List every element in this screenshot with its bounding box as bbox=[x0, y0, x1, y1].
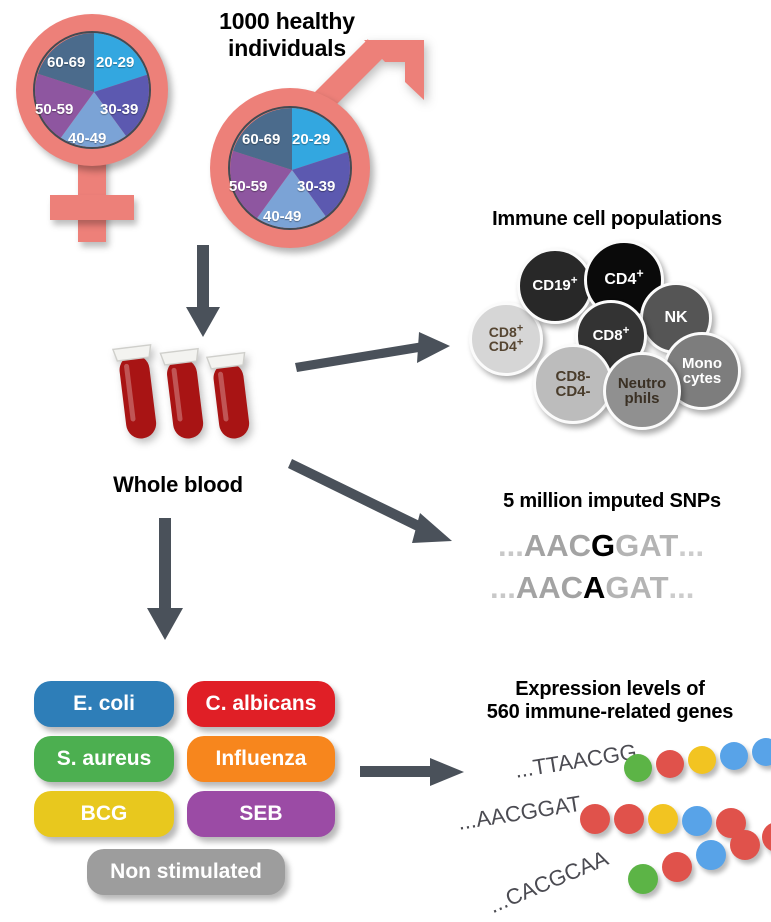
female-gender-symbol: 20-29 30-39 40-49 50-59 60-69 bbox=[8, 12, 198, 242]
gene-strand-3-dot-3 bbox=[696, 840, 726, 870]
arrow-blood-to-immune-cells bbox=[295, 330, 455, 380]
stimulus-pill-bcg-label: BCG bbox=[81, 802, 128, 826]
gene-strand-2-dot-3 bbox=[648, 804, 678, 834]
female-age-label-60-69: 60-69 bbox=[47, 54, 85, 71]
cohort-heading-line1: 1000 healthy bbox=[172, 8, 402, 35]
gene-strand-3: ...CACGCAA bbox=[440, 834, 771, 914]
stimulus-pill-influenza-label: Influenza bbox=[215, 747, 306, 771]
stimulus-pill-non-stimulated-label: Non stimulated bbox=[110, 860, 262, 884]
cell-bubble-neutrophils: Neutrophils bbox=[603, 352, 681, 430]
female-age-label-20-29: 20-29 bbox=[96, 54, 134, 71]
gene-strand-2-dot-1 bbox=[580, 804, 610, 834]
stimulus-pill-influenza[interactable]: Influenza bbox=[187, 736, 335, 782]
female-symbol-crossbar bbox=[50, 195, 134, 220]
cell-bubble-neutrophils-label: Neutrophils bbox=[618, 376, 666, 407]
gene-strand-3-dot-2 bbox=[662, 852, 692, 882]
cell-bubble-cd8p-label: CD8+ bbox=[593, 328, 630, 343]
female-age-label-30-39: 30-39 bbox=[100, 101, 138, 118]
stimulus-pill-e-coli-label: E. coli bbox=[73, 692, 135, 716]
snp-row2-right: GAT bbox=[605, 570, 668, 606]
arrow-cohort-to-blood bbox=[178, 245, 228, 340]
snp-sequence-row-1: ...AACGGAT... bbox=[498, 528, 704, 564]
female-age-label-40-49: 40-49 bbox=[68, 130, 106, 147]
gene-strand-3-dot-1 bbox=[628, 864, 658, 894]
arrow-blood-to-snps bbox=[292, 455, 462, 555]
gene-strand-1-sequence: ...TTAACGG bbox=[513, 739, 639, 784]
immune-cell-cluster: CD8+CD4+ CD19+ CD4+ NK CD8+ Monocytes CD… bbox=[465, 240, 755, 430]
stimulus-pill-seb-label: SEB bbox=[239, 802, 282, 826]
gene-strand-3-dot-4 bbox=[730, 830, 760, 860]
stimulus-pill-bcg[interactable]: BCG bbox=[34, 791, 174, 837]
blood-tubes-svg bbox=[100, 335, 280, 450]
gene-strand-2-dot-2 bbox=[614, 804, 644, 834]
stimulus-pill-c-albicans[interactable]: C. albicans bbox=[187, 681, 335, 727]
snp-row1-variant: G bbox=[591, 528, 615, 564]
cell-bubble-cd8p-cd4p-label: CD8+CD4+ bbox=[489, 325, 523, 354]
gene-strand-3-sequence: ...CACGCAA bbox=[485, 845, 612, 919]
stimulus-pill-non-stimulated[interactable]: Non stimulated bbox=[87, 849, 285, 895]
male-gender-symbol: 20-29 30-39 40-49 50-59 60-69 bbox=[202, 38, 432, 258]
genes-heading: Expression levels of 560 immune-related … bbox=[455, 678, 765, 724]
immune-cells-heading: Immune cell populations bbox=[452, 208, 762, 231]
cell-bubble-nk-label: NK bbox=[664, 310, 687, 326]
male-age-label-20-29: 20-29 bbox=[292, 131, 330, 148]
cell-bubble-cd19p-label: CD19+ bbox=[532, 278, 577, 293]
female-age-label-50-59: 50-59 bbox=[35, 101, 73, 118]
gene-strand-1-dot-2 bbox=[656, 750, 684, 778]
snp-row2-prefix: ... bbox=[490, 570, 516, 606]
stimulus-pill-s-aureus-label: S. aureus bbox=[57, 747, 152, 771]
stimulus-pill-e-coli[interactable]: E. coli bbox=[34, 681, 174, 727]
snp-row1-suffix: ... bbox=[678, 528, 704, 564]
stimulus-pill-s-aureus[interactable]: S. aureus bbox=[34, 736, 174, 782]
gene-strand-1-dot-5 bbox=[752, 738, 771, 766]
snp-row2-suffix: ... bbox=[669, 570, 695, 606]
arrow-blood-to-stimuli bbox=[140, 518, 190, 643]
male-age-label-30-39: 30-39 bbox=[297, 178, 335, 195]
snp-row1-left: AAC bbox=[524, 528, 591, 564]
figure-canvas: 1000 healthy individuals 20-29 30-39 40-… bbox=[0, 0, 771, 922]
whole-blood-tubes bbox=[100, 335, 280, 450]
male-age-label-50-59: 50-59 bbox=[229, 178, 267, 195]
gene-strand-1-dot-1 bbox=[624, 754, 652, 782]
stimulus-pill-seb[interactable]: SEB bbox=[187, 791, 335, 837]
snp-row1-right: GAT bbox=[615, 528, 678, 564]
gene-strand-2: ...AACGGAT bbox=[440, 782, 771, 842]
whole-blood-label: Whole blood bbox=[78, 472, 278, 498]
snps-heading: 5 million imputed SNPs bbox=[462, 490, 762, 513]
stimulus-pill-c-albicans-label: C. albicans bbox=[206, 692, 317, 716]
snp-sequence-row-2: ...AACAGAT... bbox=[490, 570, 694, 606]
cell-bubble-cd8n-cd4n: CD8-CD4- bbox=[533, 344, 613, 424]
gene-strand-1-dot-3 bbox=[688, 746, 716, 774]
male-age-label-40-49: 40-49 bbox=[263, 208, 301, 225]
genes-heading-line2: 560 immune-related genes bbox=[455, 701, 765, 724]
cell-bubble-cd4p-label: CD4+ bbox=[604, 272, 643, 288]
male-age-label-60-69: 60-69 bbox=[242, 131, 280, 148]
cell-bubble-cd19p: CD19+ bbox=[517, 248, 593, 324]
cell-bubble-monocytes-label: Monocytes bbox=[682, 356, 722, 387]
gene-strands-cluster: ...TTAACGG ...AACGGAT ...CACGCAA bbox=[440, 736, 771, 916]
genes-heading-line1: Expression levels of bbox=[455, 678, 765, 701]
gene-strand-2-dot-4 bbox=[682, 806, 712, 836]
snp-row2-variant: A bbox=[583, 570, 605, 606]
gene-strand-2-sequence: ...AACGGAT bbox=[456, 791, 583, 836]
cell-bubble-cd8n-cd4n-label: CD8-CD4- bbox=[555, 369, 590, 400]
gene-strand-1-dot-4 bbox=[720, 742, 748, 770]
snp-row1-prefix: ... bbox=[498, 528, 524, 564]
snp-row2-left: AAC bbox=[516, 570, 583, 606]
